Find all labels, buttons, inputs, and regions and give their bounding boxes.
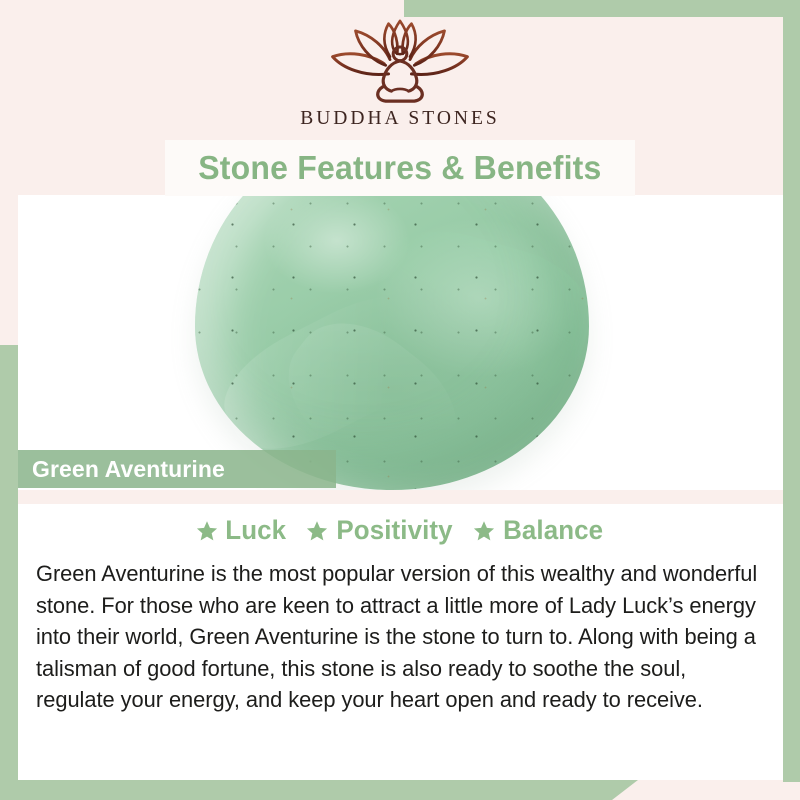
stone-photo	[18, 196, 783, 490]
benefit-item-balance: Balance	[473, 515, 605, 546]
stone-description: Green Aventurine is the most popular ver…	[36, 558, 763, 716]
stone-name-label: Green Aventurine	[32, 456, 225, 483]
benefit-item-luck: Luck	[196, 515, 287, 546]
page-title: Stone Features & Benefits	[198, 149, 601, 187]
star-icon	[473, 520, 495, 542]
border-band-bottom-taper	[612, 780, 638, 800]
benefit-label: Balance	[503, 515, 603, 546]
star-icon	[196, 520, 218, 542]
photo-underline-strip	[18, 490, 783, 504]
green-aventurine-stone-image	[195, 196, 589, 490]
border-band-bottom	[0, 780, 612, 800]
benefit-label: Luck	[225, 515, 286, 546]
lotus-meditation-figure-icon	[314, 18, 486, 104]
brand-wordmark: BUDDHA STONES	[300, 108, 500, 130]
benefits-row: Luck Positivity Balance	[18, 515, 783, 546]
star-icon	[306, 520, 328, 542]
stone-photo-inner	[18, 196, 783, 490]
benefit-label: Positivity	[336, 515, 452, 546]
brand-header: BUDDHA STONES	[0, 0, 800, 140]
title-banner: Stone Features & Benefits	[165, 140, 635, 196]
border-band-left	[0, 345, 18, 800]
stone-infographic-poster: BUDDHA STONES Stone Features & Benefits …	[0, 0, 800, 800]
stone-name-bar: Green Aventurine	[18, 450, 336, 488]
benefit-item-positivity: Positivity	[306, 515, 455, 546]
